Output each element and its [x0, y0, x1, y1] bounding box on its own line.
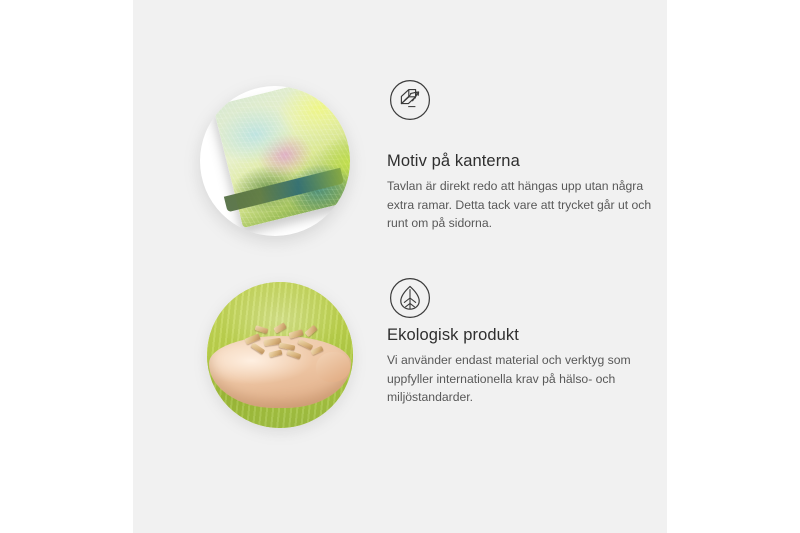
hands-holding-wood-chips-photo: [207, 282, 353, 428]
product-features-page: Motiv på kanterna Tavlan är direkt redo …: [0, 0, 800, 533]
canvas-print-corner-photo: [200, 86, 350, 236]
feature-description: Vi använder endast material och verktyg …: [387, 351, 659, 407]
leaf-icon: [388, 276, 432, 320]
wood-chips-pile: [243, 322, 325, 362]
feature-copy-motiv-pa-kanterna: Motiv på kanterna Tavlan är direkt redo …: [387, 152, 659, 233]
feature-row-ekologisk-produkt: Ekologisk produkt Vi använder endast mat…: [133, 276, 667, 436]
feature-title: Ekologisk produkt: [387, 326, 659, 344]
feature-copy-ekologisk-produkt: Ekologisk produkt Vi använder endast mat…: [387, 326, 659, 407]
content-panel: Motiv på kanterna Tavlan är direkt redo …: [133, 0, 667, 533]
feature-row-motiv-pa-kanterna: Motiv på kanterna Tavlan är direkt redo …: [133, 78, 667, 248]
feature-description: Tavlan är direkt redo att hängas upp uta…: [387, 177, 659, 233]
canvas-wrap-edge-icon: [388, 78, 432, 122]
feature-title: Motiv på kanterna: [387, 152, 659, 170]
